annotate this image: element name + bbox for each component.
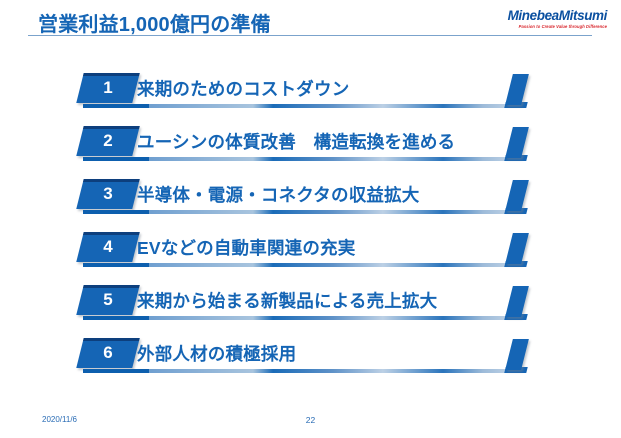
title-divider (28, 35, 592, 36)
page-title: 営業利益1,000億円の準備 (38, 8, 271, 37)
slide: 営業利益1,000億円の準備 MinebeaMitsumi Passion to… (0, 0, 621, 438)
list-item: 3 半導体・電源・コネクタの収益拡大 (0, 179, 621, 227)
item-underline (83, 369, 525, 373)
item-underline (83, 263, 525, 267)
list-item: 5 来期から始まる新製品による売上拡大 (0, 285, 621, 333)
list-item: 2 ユーシンの体質改善 構造転換を進める (0, 126, 621, 174)
item-underline (83, 157, 525, 161)
item-number-label: 4 (80, 232, 136, 262)
item-text: ユーシンの体質改善 構造転換を進める (137, 126, 455, 156)
item-number-label: 5 (80, 285, 136, 315)
item-end-marker (505, 127, 529, 158)
item-end-marker (505, 233, 529, 264)
item-end-marker (505, 286, 529, 317)
item-text: EVなどの自動車関連の充実 (137, 232, 355, 262)
list-item: 6 外部人材の積極採用 (0, 338, 621, 386)
item-number-label: 2 (80, 126, 136, 156)
list-item: 1 来期のためのコストダウン (0, 73, 621, 121)
item-number-label: 6 (80, 338, 136, 368)
footer-page-number: 22 (0, 415, 621, 425)
item-number-label: 3 (80, 179, 136, 209)
item-underline (83, 210, 525, 214)
item-text: 半導体・電源・コネクタの収益拡大 (137, 179, 420, 209)
item-underline (83, 316, 525, 320)
item-end-marker (505, 339, 529, 370)
item-end-marker (505, 180, 529, 211)
logo-wordmark: MinebeaMitsumi (491, 9, 607, 23)
item-text: 来期のためのコストダウン (137, 73, 349, 103)
logo-tagline: Passion to Create Value through Differen… (491, 25, 607, 29)
list-item: 4 EVなどの自動車関連の充実 (0, 232, 621, 280)
item-end-marker (505, 74, 529, 105)
item-number-label: 1 (80, 73, 136, 103)
item-underline (83, 104, 525, 108)
company-logo: MinebeaMitsumi Passion to Create Value t… (491, 9, 607, 29)
item-text: 外部人材の積極採用 (137, 338, 296, 368)
item-text: 来期から始まる新製品による売上拡大 (137, 285, 437, 315)
